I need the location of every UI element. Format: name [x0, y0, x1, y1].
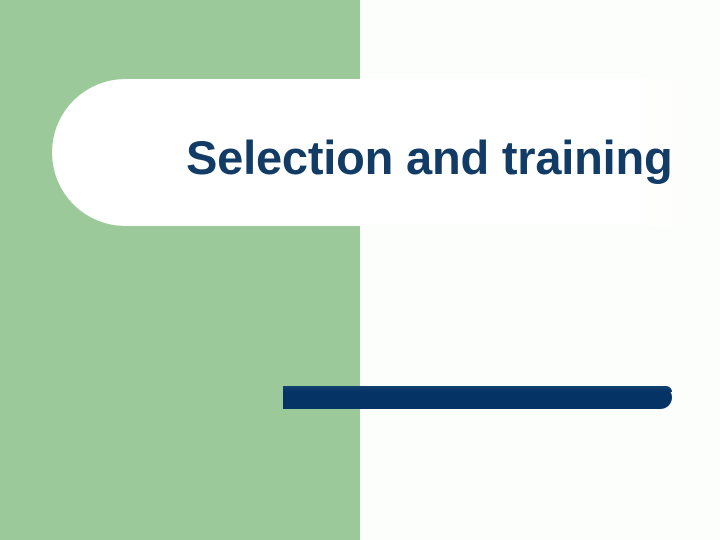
presentation-slide: Selection and training [0, 0, 720, 540]
slide-title: Selection and training [186, 128, 673, 188]
accent-bar [283, 386, 672, 409]
accent-bar-highlight [283, 386, 672, 392]
